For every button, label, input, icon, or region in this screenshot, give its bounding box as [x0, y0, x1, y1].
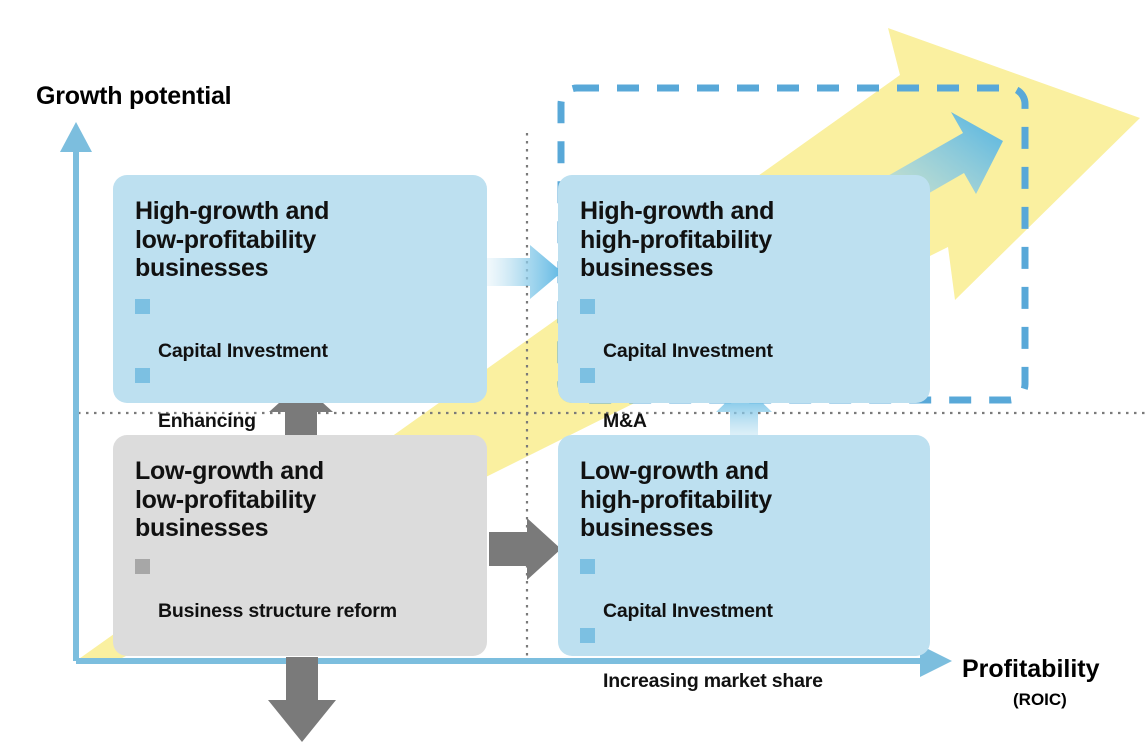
list-item: Increasing market share — [580, 624, 910, 692]
quadrant-action-list: Capital Investment M&A — [580, 295, 910, 433]
list-item-label: Capital Investment — [158, 340, 328, 362]
list-item-label: Capital Investment — [603, 340, 773, 362]
exit-arrow-downward — [268, 657, 336, 742]
quadrant-card-low-growth-low-profitability[interactable]: Low-growth and low-profitability busines… — [113, 435, 487, 656]
list-item-label: Capital Investment — [603, 600, 773, 622]
list-item-label: M&A — [603, 410, 647, 432]
quadrant-action-list: Capital Investment Increasing market sha… — [580, 555, 910, 693]
quadrant-action-list: Capital Investment Enhancing competitive… — [135, 295, 467, 455]
x-axis-sublabel: (ROIC) — [1013, 690, 1067, 710]
quadrant-title: Low-growth and low-profitability busines… — [135, 457, 467, 543]
bullet-square-icon — [580, 559, 595, 574]
quadrant-title: High-growth and low-profitability busine… — [135, 197, 467, 283]
list-item: Business structure reform — [135, 555, 467, 623]
bullet-square-icon — [135, 368, 150, 383]
strategy-matrix-diagram: Growth potential Profitability (ROIC) Hi… — [0, 0, 1146, 750]
list-item: M&A — [580, 364, 910, 432]
list-item: Capital Investment — [135, 295, 467, 363]
bullet-square-icon — [135, 559, 150, 574]
y-axis-label: Growth potential — [36, 82, 231, 111]
list-item: Capital Investment — [580, 555, 910, 623]
quadrant-card-low-growth-high-profitability[interactable]: Low-growth and high-profitability busine… — [558, 435, 930, 656]
bullet-square-icon — [135, 299, 150, 314]
transition-arrow-bl-to-br — [489, 518, 561, 580]
quadrant-title: Low-growth and high-profitability busine… — [580, 457, 910, 543]
list-item-label: Business structure reform — [158, 600, 397, 622]
x-axis-label: Profitability — [962, 655, 1100, 684]
bullet-square-icon — [580, 299, 595, 314]
bullet-square-icon — [580, 368, 595, 383]
bullet-square-icon — [580, 628, 595, 643]
list-item: Capital Investment — [580, 295, 910, 363]
y-axis-arrow — [60, 122, 92, 661]
quadrant-card-high-growth-low-profitability[interactable]: High-growth and low-profitability busine… — [113, 175, 487, 403]
quadrant-card-high-growth-high-profitability[interactable]: High-growth and high-profitability busin… — [558, 175, 930, 403]
transition-arrow-tl-to-tr — [484, 245, 562, 299]
quadrant-action-list: Business structure reform — [135, 555, 467, 623]
list-item-label: Increasing market share — [603, 670, 823, 692]
quadrant-title: High-growth and high-profitability busin… — [580, 197, 910, 283]
